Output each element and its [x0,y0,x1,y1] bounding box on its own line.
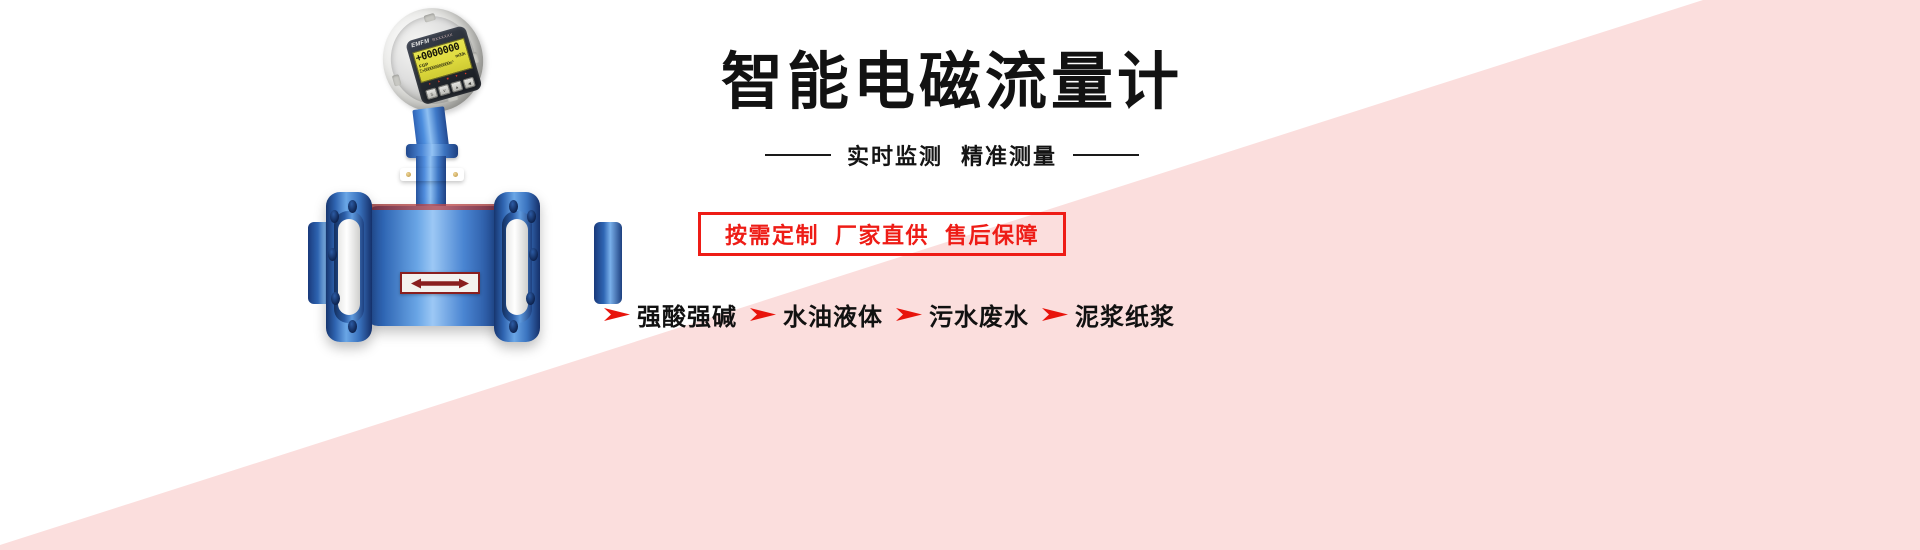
feature-label: 强酸强碱 [637,297,737,332]
arrow-right-icon [896,307,922,322]
arrow-right-icon [1042,307,1068,322]
banner-text-column: 智能电磁流量计 实时监测精准测量 按需定制厂家直供售后保障 强酸强碱 水油液体 [0,0,1920,550]
subtitle-row: 实时监测精准测量 [672,138,1232,172]
subtitle-text: 实时监测精准测量 [847,139,1057,171]
subtitle-right: 精准测量 [961,144,1057,169]
feature-label: 污水废水 [929,297,1029,332]
product-banner: EMFMRXXXXXX +0000000 FGP m3/h Σ+00000000… [0,0,1920,550]
page-title: 智能电磁流量计 [672,48,1232,118]
selling-point-1: 按需定制 [725,223,819,248]
feature-label: 泥浆纸浆 [1075,297,1175,332]
selling-points-badge: 按需定制厂家直供售后保障 [698,212,1066,256]
application-feature-list: 强酸强碱 水油液体 污水废水 泥浆纸浆 [604,295,1224,333]
subtitle-left: 实时监测 [847,144,943,169]
feature-item-3: 污水废水 [896,297,1029,332]
feature-item-4: 泥浆纸浆 [1042,297,1175,332]
feature-item-2: 水油液体 [750,297,883,332]
feature-label: 水油液体 [783,297,883,332]
subtitle-rule-left [765,154,831,156]
feature-item-1: 强酸强碱 [604,297,737,332]
arrow-right-icon [750,307,776,322]
arrow-right-icon [604,307,630,322]
selling-points-text: 按需定制厂家直供售后保障 [725,218,1039,250]
selling-point-2: 厂家直供 [835,223,929,248]
subtitle-rule-right [1073,154,1139,156]
selling-point-3: 售后保障 [945,223,1039,248]
